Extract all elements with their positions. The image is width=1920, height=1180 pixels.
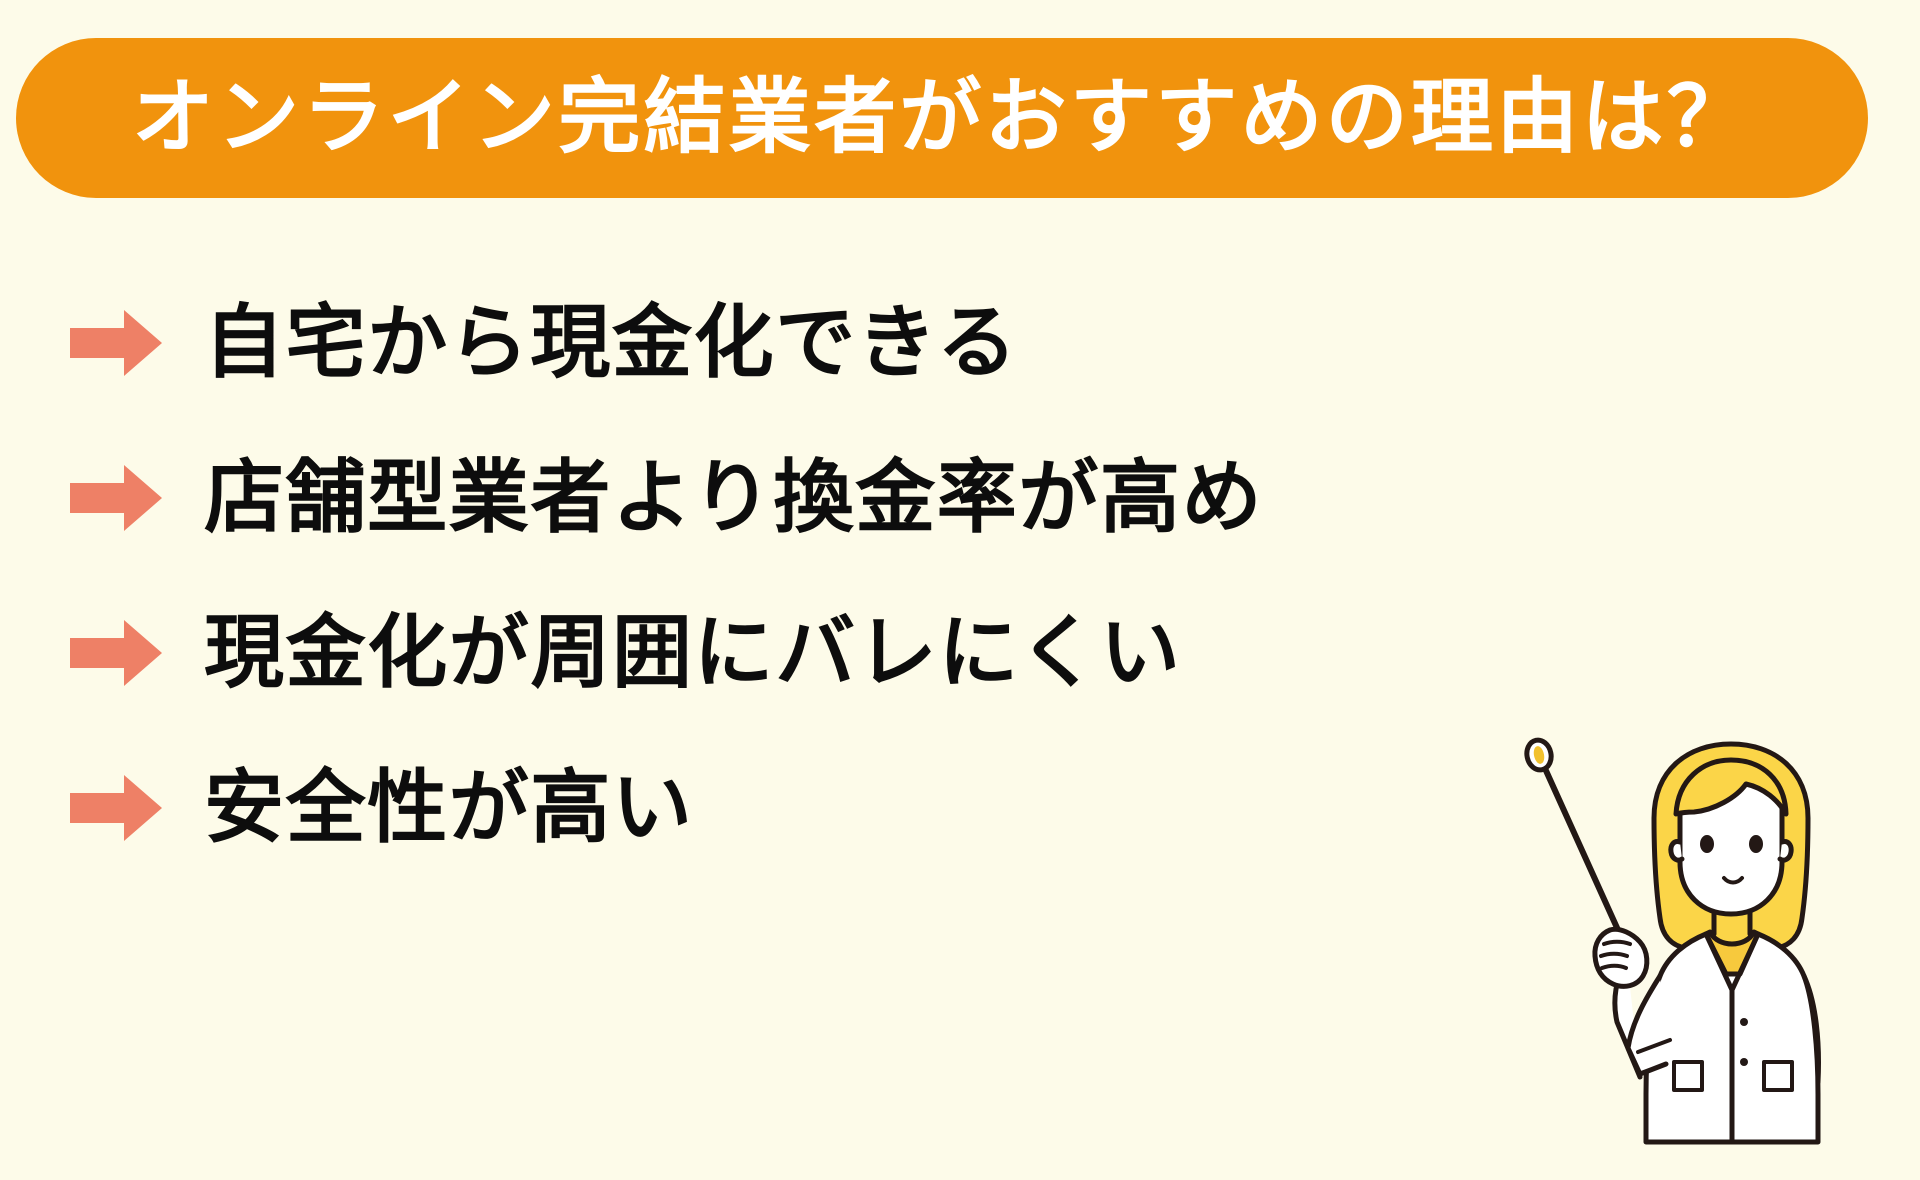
title-banner: オンライン完結業者がおすすめの理由は？ (16, 38, 1868, 198)
right-arrow-icon (70, 775, 162, 841)
right-arrow-icon (70, 465, 162, 531)
list-item: 店舗型業者より換金率が高め (0, 420, 1400, 575)
list-item-label: 安全性が高い (204, 768, 694, 848)
page-title: オンライン完結業者がおすすめの理由は？ (132, 77, 1752, 159)
list-item: 現金化が周囲にバレにくい (0, 575, 1400, 730)
hand-icon (1595, 929, 1647, 986)
list-item: 安全性が高い (0, 730, 1400, 885)
benefits-list: 自宅から現金化できる 店舗型業者より換金率が高め 現金化が周囲にバレにくい 安全… (0, 265, 1400, 885)
pointer-stick-icon (1524, 738, 1618, 930)
woman-with-pointer-illustration (1488, 722, 1908, 1152)
right-arrow-icon (70, 620, 162, 686)
infographic-canvas: オンライン完結業者がおすすめの理由は？ 自宅から現金化できる 店舗型業者より換金… (0, 0, 1920, 1180)
list-item: 自宅から現金化できる (0, 265, 1400, 420)
list-item-label: 現金化が周囲にバレにくい (204, 613, 1182, 693)
list-item-label: 自宅から現金化できる (204, 303, 1018, 383)
right-arrow-icon (70, 310, 162, 376)
list-item-label: 店舗型業者より換金率が高め (204, 458, 1263, 538)
